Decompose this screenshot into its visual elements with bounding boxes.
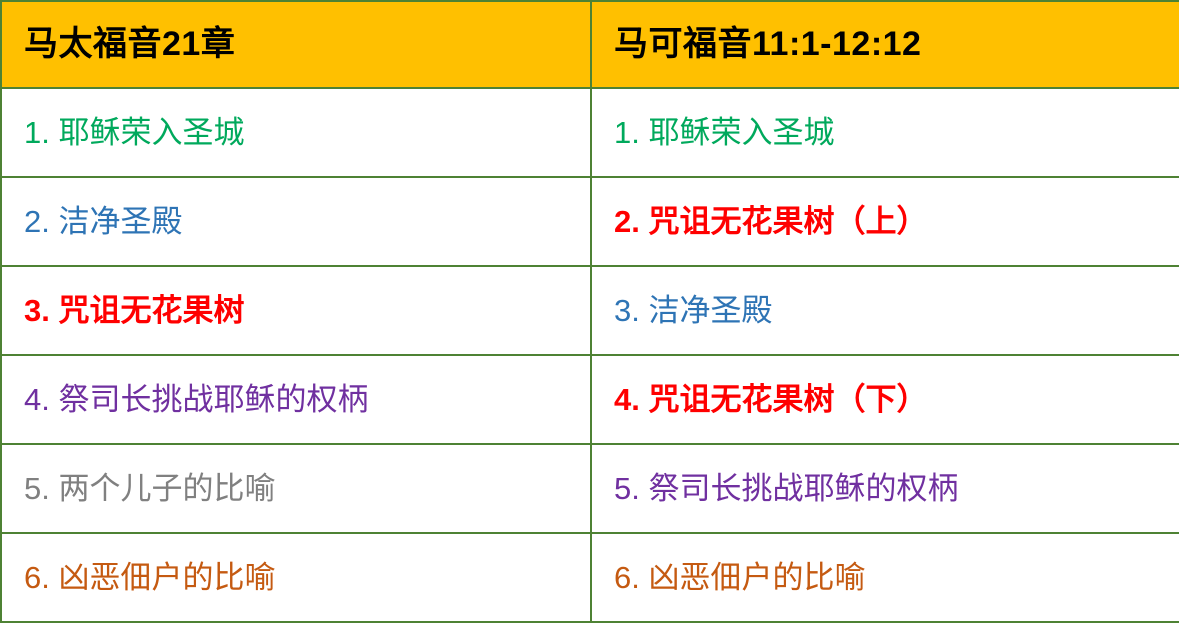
table-body: 1. 耶稣荣入圣城 1. 耶稣荣入圣城 2. 洁净圣殿 2. 咒诅无花果树（上）… <box>1 88 1179 622</box>
column-header-matthew: 马太福音21章 <box>1 1 591 88</box>
cell-mark-1-text: 1. 耶稣荣入圣城 <box>614 114 1179 151</box>
column-header-mark: 马可福音11:1-12:12 <box>591 1 1179 88</box>
gospel-comparison-table: 马太福音21章 马可福音11:1-12:12 1. 耶稣荣入圣城 1. 耶稣荣入… <box>0 0 1179 623</box>
cell-mark-2-text: 2. 咒诅无花果树（上） <box>614 203 1179 240</box>
cell-matthew-1-text: 1. 耶稣荣入圣城 <box>24 114 590 151</box>
cell-matthew-4: 4. 祭司长挑战耶稣的权柄 <box>1 355 591 444</box>
cell-mark-1: 1. 耶稣荣入圣城 <box>591 88 1179 177</box>
cell-mark-5-text: 5. 祭司长挑战耶稣的权柄 <box>614 470 1179 507</box>
cell-matthew-3: 3. 咒诅无花果树 <box>1 266 591 355</box>
table-header: 马太福音21章 马可福音11:1-12:12 <box>1 1 1179 88</box>
cell-matthew-1: 1. 耶稣荣入圣城 <box>1 88 591 177</box>
cell-mark-4-text: 4. 咒诅无花果树（下） <box>614 381 1179 418</box>
cell-matthew-5: 5. 两个儿子的比喻 <box>1 444 591 533</box>
table-row: 3. 咒诅无花果树 3. 洁净圣殿 <box>1 266 1179 355</box>
cell-mark-2: 2. 咒诅无花果树（上） <box>591 177 1179 266</box>
cell-mark-3: 3. 洁净圣殿 <box>591 266 1179 355</box>
table-row: 1. 耶稣荣入圣城 1. 耶稣荣入圣城 <box>1 88 1179 177</box>
table-row: 4. 祭司长挑战耶稣的权柄 4. 咒诅无花果树（下） <box>1 355 1179 444</box>
cell-matthew-6-text: 6. 凶恶佃户的比喻 <box>24 559 590 596</box>
table-row: 5. 两个儿子的比喻 5. 祭司长挑战耶稣的权柄 <box>1 444 1179 533</box>
cell-mark-4: 4. 咒诅无花果树（下） <box>591 355 1179 444</box>
column-header-matthew-label: 马太福音21章 <box>24 26 590 63</box>
table-row: 2. 洁净圣殿 2. 咒诅无花果树（上） <box>1 177 1179 266</box>
cell-mark-3-text: 3. 洁净圣殿 <box>614 292 1179 329</box>
cell-matthew-3-text: 3. 咒诅无花果树 <box>24 292 590 329</box>
cell-matthew-2: 2. 洁净圣殿 <box>1 177 591 266</box>
cell-matthew-2-text: 2. 洁净圣殿 <box>24 203 590 240</box>
column-header-mark-label: 马可福音11:1-12:12 <box>614 26 1179 63</box>
cell-matthew-4-text: 4. 祭司长挑战耶稣的权柄 <box>24 381 590 418</box>
cell-matthew-5-text: 5. 两个儿子的比喻 <box>24 470 590 507</box>
table-header-row: 马太福音21章 马可福音11:1-12:12 <box>1 1 1179 88</box>
cell-mark-5: 5. 祭司长挑战耶稣的权柄 <box>591 444 1179 533</box>
cell-mark-6-text: 6. 凶恶佃户的比喻 <box>614 559 1179 596</box>
